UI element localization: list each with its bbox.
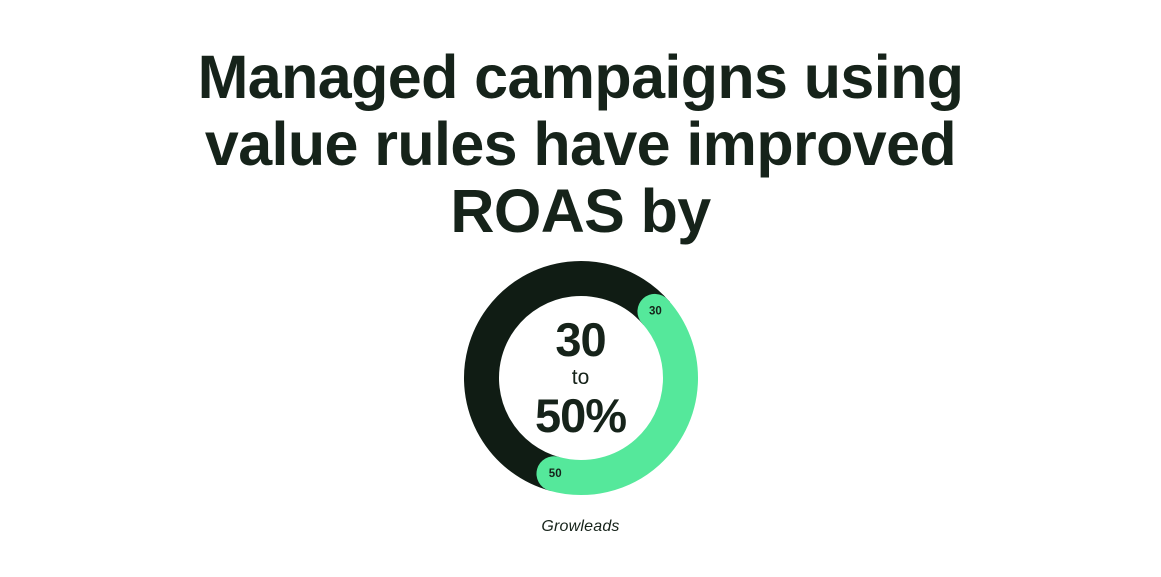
donut-label-30: 30 xyxy=(649,306,662,318)
headline-line-1: Managed campaigns using xyxy=(166,44,996,111)
donut-label-50: 50 xyxy=(548,468,561,480)
headline-line-3: ROAS by xyxy=(166,178,996,245)
donut-label-badge-50: 50 xyxy=(548,468,561,480)
slide-canvas: Managed campaigns using value rules have… xyxy=(0,0,1161,577)
donut-chart: 30 50 30 to 50% xyxy=(464,261,698,495)
brand-attribution: Growleads xyxy=(541,517,619,537)
donut-chart-svg: 30 50 xyxy=(464,261,698,495)
page-title: Managed campaigns using value rules have… xyxy=(166,0,996,245)
headline-line-2: value rules have improved xyxy=(166,111,996,178)
donut-label-badge-30: 30 xyxy=(649,306,662,318)
